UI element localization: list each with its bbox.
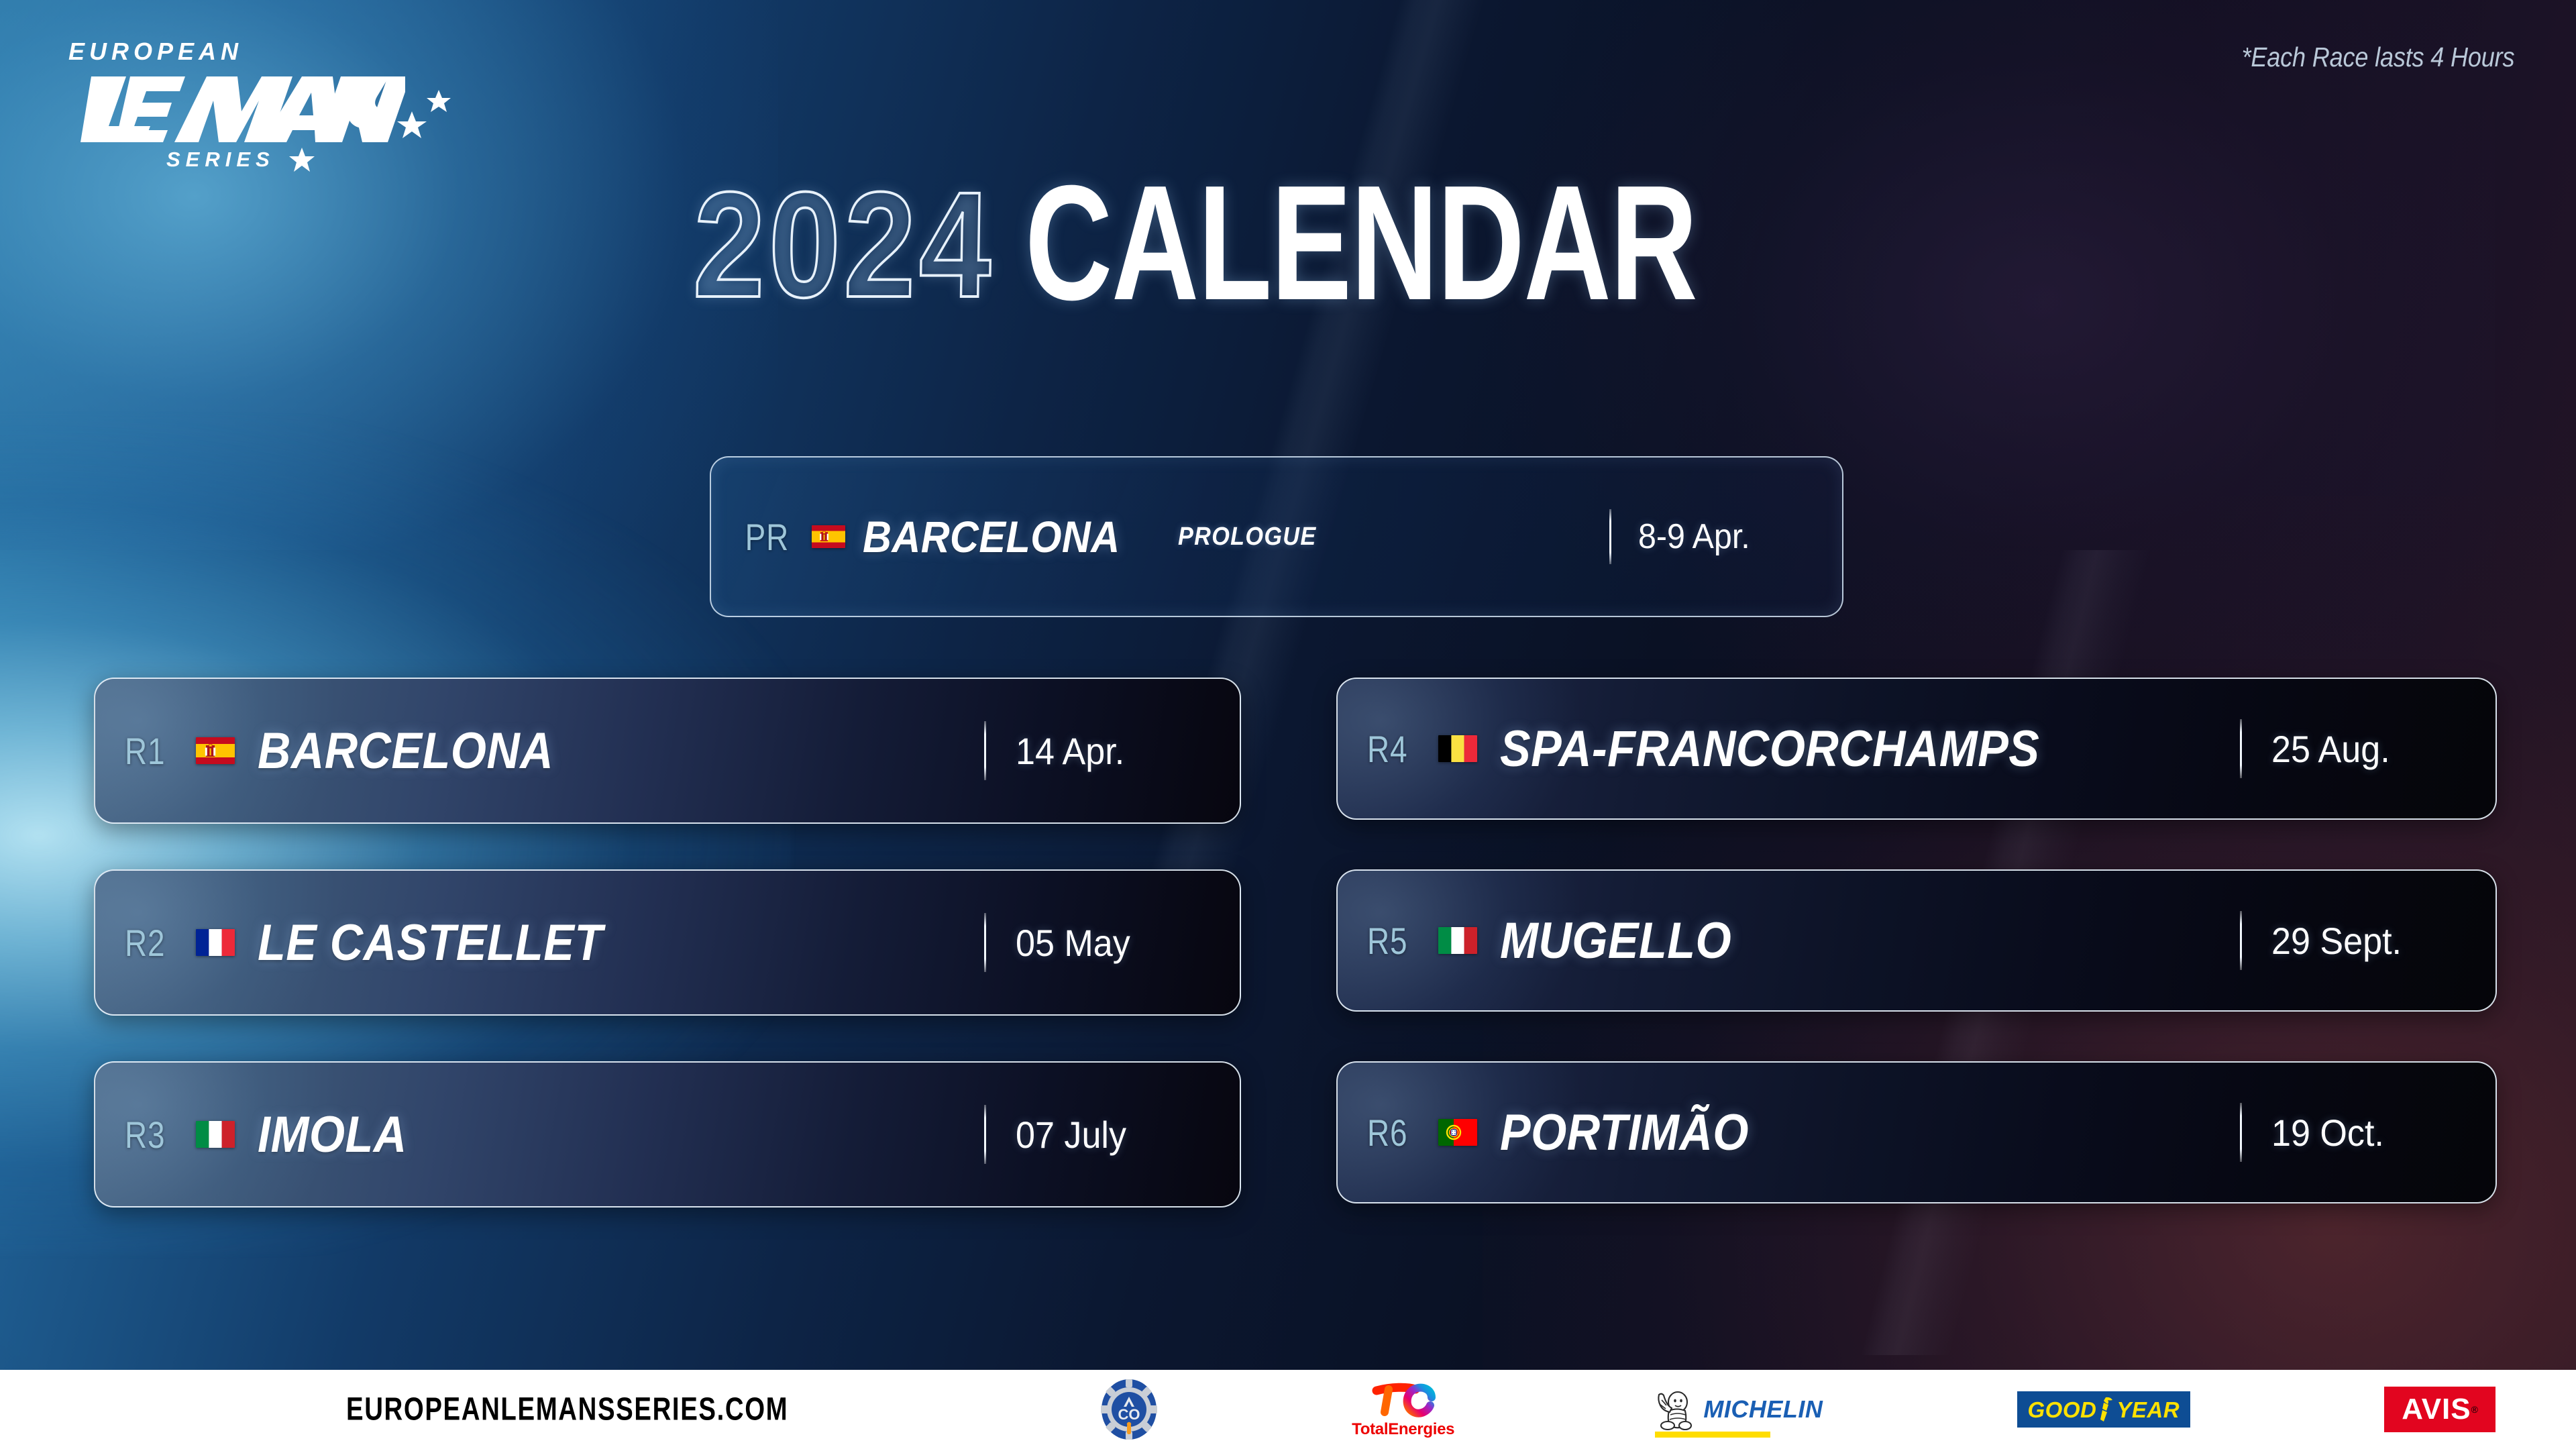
round-label-r2: R2 (125, 921, 178, 965)
round-label-r5: R5 (1367, 919, 1420, 963)
flag-portugal-icon (1438, 1119, 1477, 1146)
race-card-r1[interactable]: R1 BARCELONA 14 Apr. (94, 678, 1241, 824)
race-card-r4[interactable]: R4 SPA-FRANCORCHAMPS 25 Aug. (1336, 678, 2497, 820)
flag-spain-icon (812, 525, 845, 548)
date-r1: 14 Apr. (1016, 729, 1197, 773)
goodyear-label-good: GOOD (2028, 1399, 2097, 1421)
race-card-r2[interactable]: R2 LE CASTELLET 05 May (94, 869, 1241, 1016)
date-r3: 07 July (1016, 1113, 1197, 1157)
totalenergies-label: TotalEnergies (1352, 1420, 1454, 1439)
prologue-round-label: PR (741, 515, 794, 559)
race-card-r5[interactable]: R5 MUGELLO 29 Sept. (1336, 869, 2497, 1012)
avis-registered-icon: ® (2471, 1404, 2478, 1415)
totalenergies-logo[interactable]: TotalEnergies (1352, 1376, 1454, 1443)
prologue-date: 8-9 Apr. (1638, 517, 1801, 557)
title-year: 2024 (692, 180, 996, 310)
logo-euro-stars-icon (360, 70, 467, 145)
michelin-logo[interactable]: MICHELIN (1648, 1376, 1823, 1443)
race-card-r6[interactable]: R6 PORTIMÃO 19 Oct. (1336, 1061, 2497, 1203)
aco-logo[interactable]: CO (1100, 1376, 1158, 1443)
prologue-separator (1609, 509, 1611, 564)
date-r6: 19 Oct. (2271, 1111, 2453, 1155)
date-r4: 25 Aug. (2271, 727, 2453, 771)
race-duration-note: *Each Race lasts 4 Hours (2241, 42, 2514, 73)
calendar-poster: EUROPEAN (0, 0, 2576, 1449)
goodyear-logo[interactable]: GOOD YEAR (2017, 1376, 2191, 1443)
separator-r3 (984, 1105, 986, 1164)
avis-logo[interactable]: AVIS ® (2384, 1376, 2495, 1443)
prologue-card[interactable]: PR BARCELONA PROLOGUE 8-9 Apr. (710, 456, 1843, 617)
flag-spain-icon (196, 737, 235, 764)
michelin-label: MICHELIN (1703, 1395, 1823, 1424)
totalenergies-mark-icon (1368, 1380, 1438, 1419)
date-r2: 05 May (1016, 921, 1197, 965)
prologue-venue: BARCELONA (863, 511, 1120, 562)
logo-lemans-wordmark-icon (56, 71, 405, 146)
separator-r1 (984, 721, 986, 780)
avis-label: AVIS (2402, 1395, 2471, 1424)
flag-france-icon (196, 929, 235, 956)
round-label-r3: R3 (125, 1113, 178, 1157)
venue-r2: LE CASTELLET (258, 914, 603, 972)
logo-series-row: SERIES (166, 146, 472, 173)
flag-italy-icon (1438, 927, 1477, 954)
venue-r1: BARCELONA (258, 722, 553, 780)
race-card-r3[interactable]: R3 IMOLA 07 July (94, 1061, 1241, 1207)
website-url[interactable]: EUROPEANLEMANSSERIES.COM (346, 1391, 788, 1428)
flag-belgium-icon (1438, 735, 1477, 762)
separator-r2 (984, 913, 986, 972)
round-label-r1: R1 (125, 729, 178, 773)
venue-r6: PORTIMÃO (1500, 1104, 1749, 1162)
separator-r5 (2240, 911, 2242, 970)
sponsor-strip: CO (1100, 1370, 2495, 1449)
svg-text:CO: CO (1118, 1406, 1140, 1423)
venue-r3: IMOLA (258, 1106, 407, 1164)
logo-european-text: EUROPEAN (68, 38, 472, 66)
flag-italy-icon (196, 1121, 235, 1148)
michelin-bibendum-icon (1648, 1385, 1698, 1434)
goodyear-label-year: YEAR (2116, 1399, 2180, 1421)
venue-r4: SPA-FRANCORCHAMPS (1500, 720, 2039, 778)
round-label-r6: R6 (1367, 1111, 1420, 1155)
prologue-tag: PROLOGUE (1178, 523, 1317, 551)
logo-series-text: SERIES (166, 148, 275, 172)
footer-bar: EUROPEANLEMANSSERIES.COM (0, 1370, 2576, 1449)
elms-logo: EUROPEAN (56, 38, 472, 173)
michelin-yellow-bar (1655, 1432, 1770, 1438)
logo-lemans-mark (56, 71, 472, 144)
title-calendar: Calendar (1025, 176, 1697, 310)
round-label-r4: R4 (1367, 727, 1420, 771)
venue-r5: MUGELLO (1500, 912, 1731, 970)
separator-r4 (2240, 719, 2242, 778)
logo-star-icon (288, 146, 315, 173)
goodyear-winged-foot-icon (2098, 1396, 2115, 1423)
date-r5: 29 Sept. (2271, 919, 2453, 963)
separator-r6 (2240, 1103, 2242, 1162)
aco-logo-icon: CO (1100, 1379, 1158, 1440)
page-title: 2024 Calendar (0, 176, 2576, 310)
